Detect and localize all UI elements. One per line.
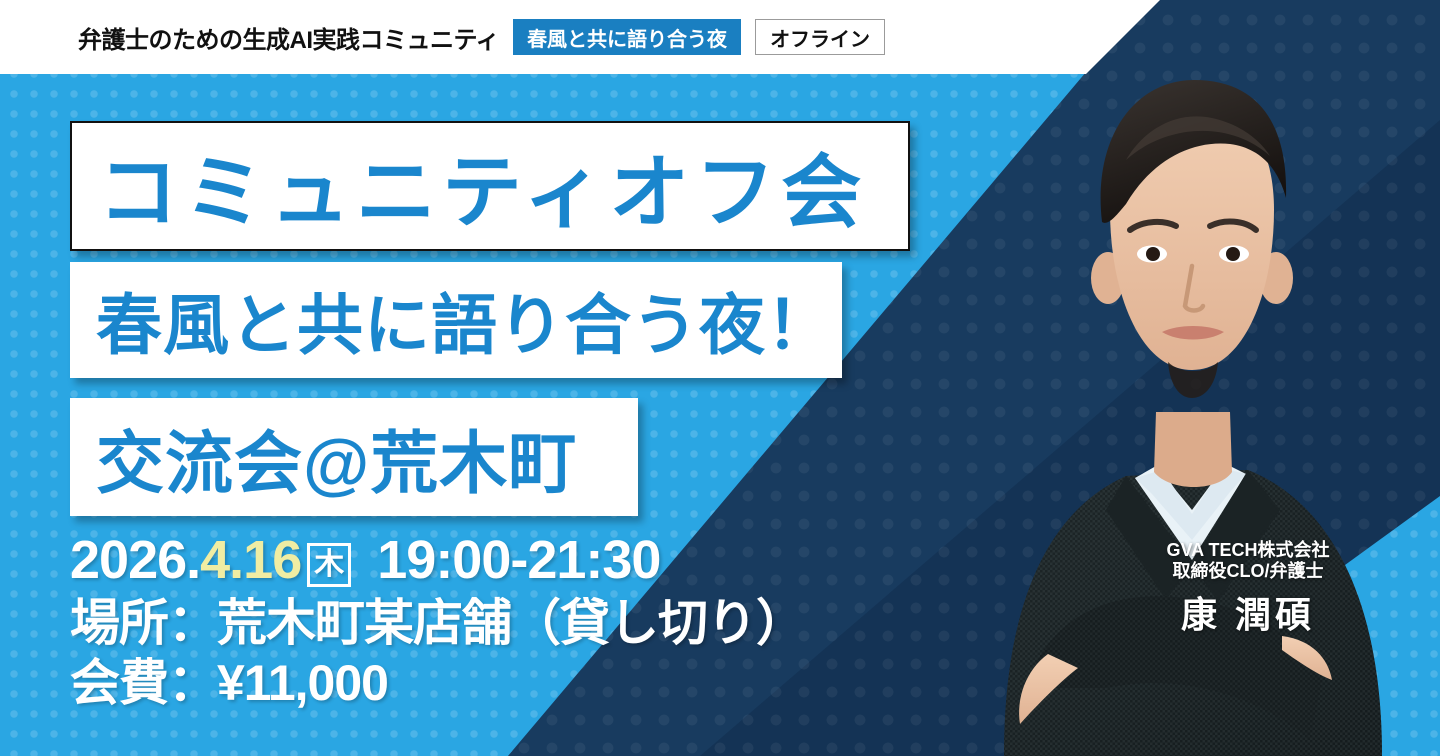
venue-title-text: 交流会@荒木町 xyxy=(96,408,577,507)
main-title-box: コミュニティオフ会 xyxy=(70,121,910,251)
fee-line: 会費：¥11,000 xyxy=(70,651,805,711)
speaker-name: 康 潤碩 xyxy=(1098,586,1398,638)
place-line: 場所：荒木町某店舗（貸し切り） xyxy=(70,591,805,651)
date-time-line: 2026. 4.16 木 19:00-21:30 xyxy=(70,530,805,591)
speaker-role: 取締役CLO/弁護士 xyxy=(1098,561,1398,582)
speaker-portrait xyxy=(930,40,1440,756)
event-place: 場所：荒木町某店舗（貸し切り） xyxy=(70,595,805,651)
event-time: 19:00-21:30 xyxy=(377,530,660,590)
main-title-text: コミュニティオフ会 xyxy=(98,128,867,244)
event-fee: 会費：¥11,000 xyxy=(70,655,388,711)
subtitle-box: 春風と共に語り合う夜！ xyxy=(70,262,842,378)
subtitle-text: 春風と共に語り合う夜！ xyxy=(96,272,833,368)
venue-title-box: 交流会@荒木町 xyxy=(70,398,638,516)
event-details: 2026. 4.16 木 19:00-21:30 場所：荒木町某店舗（貸し切り）… xyxy=(70,530,805,711)
event-poster: 弁護士のための生成AI実践コミュニティ 春風と共に語り合う夜 オフライン コミュ… xyxy=(0,0,1440,756)
day-of-week-box: 木 xyxy=(307,543,351,587)
date-prefix: 2026. xyxy=(70,530,200,590)
event-format-badge: オフライン xyxy=(755,19,885,55)
community-title: 弁護士のための生成AI実践コミュニティ xyxy=(78,20,499,55)
speaker-organization: GVA TECH株式会社 xyxy=(1098,540,1398,561)
event-name-badge: 春風と共に語り合う夜 xyxy=(513,19,741,55)
speaker-caption: GVA TECH株式会社 取締役CLO/弁護士 康 潤碩 xyxy=(1098,540,1398,638)
date-accent: 4.16 xyxy=(200,530,301,590)
